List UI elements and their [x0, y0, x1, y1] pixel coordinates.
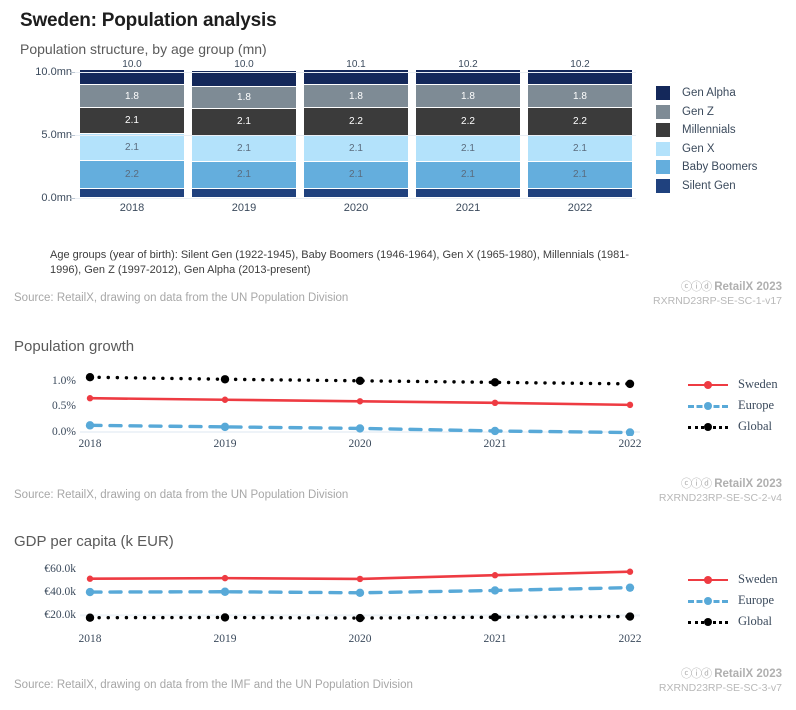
- chart1-gridline: [74, 135, 636, 136]
- bar-segment[interactable]: 2.1: [304, 162, 408, 188]
- chart1-source: Source: RetailX, drawing on data from th…: [14, 292, 348, 304]
- data-point[interactable]: [222, 397, 228, 403]
- chart1-credit: ⓒⓘⓓ RetailX 2023 RXRND23RP-SE-SC-1-v17: [653, 280, 782, 308]
- chart1-xtick-label: 2022: [528, 202, 632, 214]
- chart1-axis-tick: [70, 135, 75, 136]
- data-point[interactable]: [627, 569, 633, 575]
- legend-item[interactable]: Sweden: [688, 569, 778, 590]
- chart1-credit-line: ⓒⓘⓓ RetailX 2023: [653, 280, 782, 294]
- bar-segment[interactable]: 2.2: [528, 108, 632, 136]
- legend-label: Baby Boomers: [682, 161, 757, 173]
- legend-item[interactable]: Global: [688, 416, 778, 437]
- bar-segment[interactable]: [192, 71, 296, 86]
- chart3-credit-line: ⓒⓘⓓ RetailX 2023: [659, 667, 782, 681]
- bar-segment[interactable]: [80, 189, 184, 198]
- creative-commons-icon: ⓒⓘⓓ: [681, 668, 711, 680]
- legend-label: Gen Z: [682, 106, 714, 118]
- legend-line-icon: [688, 594, 728, 608]
- legend-label: Gen X: [682, 143, 715, 155]
- data-point[interactable]: [356, 589, 364, 597]
- bar-segment[interactable]: [192, 189, 296, 198]
- legend-line-icon: [688, 615, 728, 629]
- bar-segment[interactable]: 1.8: [528, 85, 632, 108]
- chart1-xtick-label: 2019: [192, 202, 296, 214]
- legend-item[interactable]: Gen X: [656, 140, 757, 159]
- data-point[interactable]: [86, 373, 94, 381]
- ytick-label: €60.0k: [44, 563, 76, 575]
- bar-total-label: 10.2: [416, 59, 520, 70]
- legend-label: Global: [738, 614, 772, 629]
- chart3-credit-text: RetailX 2023: [714, 668, 782, 680]
- legend-label: Millennials: [682, 124, 736, 136]
- xtick-label: 2022: [619, 633, 642, 645]
- legend-item[interactable]: Gen Alpha: [656, 84, 757, 103]
- chart1-ytick-label: 0.0mn: [41, 192, 72, 204]
- data-point[interactable]: [356, 377, 364, 385]
- bar-total-label: 10.0: [80, 59, 184, 70]
- legend-swatch-icon: [656, 142, 670, 156]
- chart1-xtick-label: 2018: [80, 202, 184, 214]
- legend-label: Silent Gen: [682, 180, 736, 192]
- gdp-per-capita-chart: €20.0k€40.0k€60.0k20182019202020212022: [14, 563, 684, 653]
- chart2-credit-text: RetailX 2023: [714, 478, 782, 490]
- data-point[interactable]: [86, 588, 94, 596]
- chart3-legend: SwedenEuropeGlobal: [688, 569, 778, 632]
- bar-segment[interactable]: 2.1: [80, 108, 184, 134]
- data-point[interactable]: [357, 576, 363, 582]
- bar-segment[interactable]: 2.1: [528, 136, 632, 162]
- chart1-axis-tick: [70, 198, 75, 199]
- data-point[interactable]: [356, 614, 364, 622]
- legend-swatch-icon: [656, 160, 670, 174]
- chart1-xtick-label: 2021: [416, 202, 520, 214]
- ytick-label: 0.5%: [52, 400, 76, 412]
- bar-segment[interactable]: 2.1: [416, 136, 520, 162]
- bar-segment[interactable]: 2.1: [192, 109, 296, 135]
- data-point[interactable]: [86, 613, 94, 621]
- legend-item[interactable]: Europe: [688, 395, 778, 416]
- legend-line-icon: [688, 420, 728, 434]
- legend-swatch-icon: [656, 179, 670, 193]
- xtick-label: 2020: [349, 438, 372, 450]
- ytick-label: 0.0%: [52, 426, 76, 438]
- bar-segment[interactable]: 2.1: [192, 136, 296, 162]
- chart1-ytick-label: 5.0mn: [41, 129, 72, 141]
- ytick-label: €20.0k: [44, 609, 76, 621]
- creative-commons-icon: ⓒⓘⓓ: [681, 478, 711, 490]
- data-point[interactable]: [491, 586, 499, 594]
- legend-line-icon: [688, 399, 728, 413]
- bar-segment[interactable]: 1.8: [416, 85, 520, 108]
- chart2-doc-id: RXRND23RP-SE-SC-2-v4: [659, 491, 782, 505]
- data-point[interactable]: [626, 380, 634, 388]
- chart1-doc-id: RXRND23RP-SE-SC-1-v17: [653, 294, 782, 308]
- data-point[interactable]: [87, 576, 93, 582]
- legend-item[interactable]: Millennials: [656, 121, 757, 140]
- plot-area: [80, 563, 640, 631]
- bar-segment[interactable]: 2.1: [192, 162, 296, 188]
- data-point[interactable]: [221, 588, 229, 596]
- bar-segment[interactable]: 2.2: [80, 161, 184, 189]
- legend-item[interactable]: Europe: [688, 590, 778, 611]
- xtick-label: 2021: [484, 633, 507, 645]
- legend-label: Global: [738, 419, 772, 434]
- legend-label: Europe: [738, 593, 774, 608]
- xtick-label: 2018: [79, 438, 102, 450]
- chart1-ytick-label: 10.0mn: [35, 66, 72, 78]
- y-axis-labels: 0.0%0.5%1.0%: [14, 368, 76, 438]
- chart3-credit: ⓒⓘⓓ RetailX 2023 RXRND23RP-SE-SC-3-v7: [659, 667, 782, 695]
- legend-swatch-icon: [656, 86, 670, 100]
- chart1-footnote: Age groups (year of birth): Silent Gen (…: [50, 248, 640, 278]
- xtick-label: 2022: [619, 438, 642, 450]
- chart2-legend: SwedenEuropeGlobal: [688, 374, 778, 437]
- chart1-xtick-label: 2020: [304, 202, 408, 214]
- bar-segment[interactable]: 2.1: [304, 136, 408, 162]
- chart1-subtitle: Population structure, by age group (mn): [20, 41, 267, 57]
- bar-segment[interactable]: [528, 189, 632, 198]
- data-point[interactable]: [626, 428, 634, 436]
- plot-area: [80, 368, 640, 436]
- page-title: Sweden: Population analysis: [20, 10, 276, 32]
- legend-item[interactable]: Silent Gen: [656, 177, 757, 196]
- bar-segment[interactable]: 2.2: [304, 108, 408, 136]
- legend-line-icon: [688, 378, 728, 392]
- legend-item[interactable]: Global: [688, 611, 778, 632]
- bar-total-label: 10.0: [192, 59, 296, 70]
- chart2-source: Source: RetailX, drawing on data from th…: [14, 489, 348, 501]
- data-point[interactable]: [491, 427, 499, 435]
- bar-segment[interactable]: 2.1: [528, 162, 632, 188]
- bar-segment[interactable]: 1.8: [80, 85, 184, 108]
- chart2-credit-line: ⓒⓘⓓ RetailX 2023: [659, 477, 782, 491]
- legend-label: Sweden: [738, 377, 778, 392]
- data-point[interactable]: [626, 583, 634, 591]
- data-point[interactable]: [222, 575, 228, 581]
- population-growth-chart: 0.0%0.5%1.0%20182019202020212022: [14, 368, 684, 458]
- bar-segment[interactable]: 2.1: [416, 162, 520, 188]
- legend-label: Gen Alpha: [682, 87, 736, 99]
- legend-item[interactable]: Baby Boomers: [656, 158, 757, 177]
- data-point[interactable]: [626, 612, 634, 620]
- data-point[interactable]: [492, 572, 498, 578]
- bar-segment[interactable]: 2.2: [416, 108, 520, 136]
- legend-item[interactable]: Sweden: [688, 374, 778, 395]
- chart2-title: Population growth: [14, 338, 134, 355]
- data-point[interactable]: [491, 378, 499, 386]
- data-point[interactable]: [627, 402, 633, 408]
- data-point[interactable]: [221, 423, 229, 431]
- chart1-credit-text: RetailX 2023: [714, 281, 782, 293]
- xtick-label: 2018: [79, 633, 102, 645]
- data-point[interactable]: [86, 421, 94, 429]
- xtick-label: 2019: [214, 438, 237, 450]
- bar-segment[interactable]: [416, 189, 520, 198]
- chart1-axis-tick: [70, 72, 75, 73]
- chart1-gridline: [74, 72, 636, 73]
- bar-segment[interactable]: 2.1: [80, 134, 184, 160]
- legend-label: Europe: [738, 398, 774, 413]
- creative-commons-icon: ⓒⓘⓓ: [681, 281, 711, 293]
- ytick-label: 1.0%: [52, 375, 76, 387]
- legend-item[interactable]: Gen Z: [656, 103, 757, 122]
- bar-segment[interactable]: [304, 189, 408, 198]
- legend-line-icon: [688, 573, 728, 587]
- chart3-doc-id: RXRND23RP-SE-SC-3-v7: [659, 681, 782, 695]
- chart3-title: GDP per capita (k EUR): [14, 533, 174, 550]
- xtick-label: 2021: [484, 438, 507, 450]
- chart1-legend: Gen AlphaGen ZMillennialsGen XBaby Boome…: [656, 84, 757, 195]
- data-point[interactable]: [357, 398, 363, 404]
- data-point[interactable]: [491, 613, 499, 621]
- ytick-label: €40.0k: [44, 586, 76, 598]
- legend-swatch-icon: [656, 123, 670, 137]
- chart1-y-axis: 0.0mn5.0mn10.0mn: [18, 72, 72, 198]
- data-point[interactable]: [221, 613, 229, 621]
- chart1-gridline: [74, 198, 636, 199]
- chart3-source: Source: RetailX, drawing on data from th…: [14, 679, 413, 691]
- data-point[interactable]: [221, 375, 229, 383]
- xtick-label: 2020: [349, 633, 372, 645]
- y-axis-labels: €20.0k€40.0k€60.0k: [14, 563, 76, 633]
- bar-segment[interactable]: 1.8: [304, 85, 408, 108]
- data-point[interactable]: [87, 395, 93, 401]
- chart2-credit: ⓒⓘⓓ RetailX 2023 RXRND23RP-SE-SC-2-v4: [659, 477, 782, 505]
- data-point[interactable]: [356, 424, 364, 432]
- legend-swatch-icon: [656, 105, 670, 119]
- legend-label: Sweden: [738, 572, 778, 587]
- bar-segment[interactable]: 1.8: [192, 87, 296, 110]
- data-point[interactable]: [492, 400, 498, 406]
- xtick-label: 2019: [214, 633, 237, 645]
- bar-total-label: 10.2: [528, 59, 632, 70]
- population-structure-chart: 0.0mn5.0mn10.0mn 10.02.22.12.11.8201810.…: [18, 72, 636, 220]
- bar-total-label: 10.1: [304, 59, 408, 70]
